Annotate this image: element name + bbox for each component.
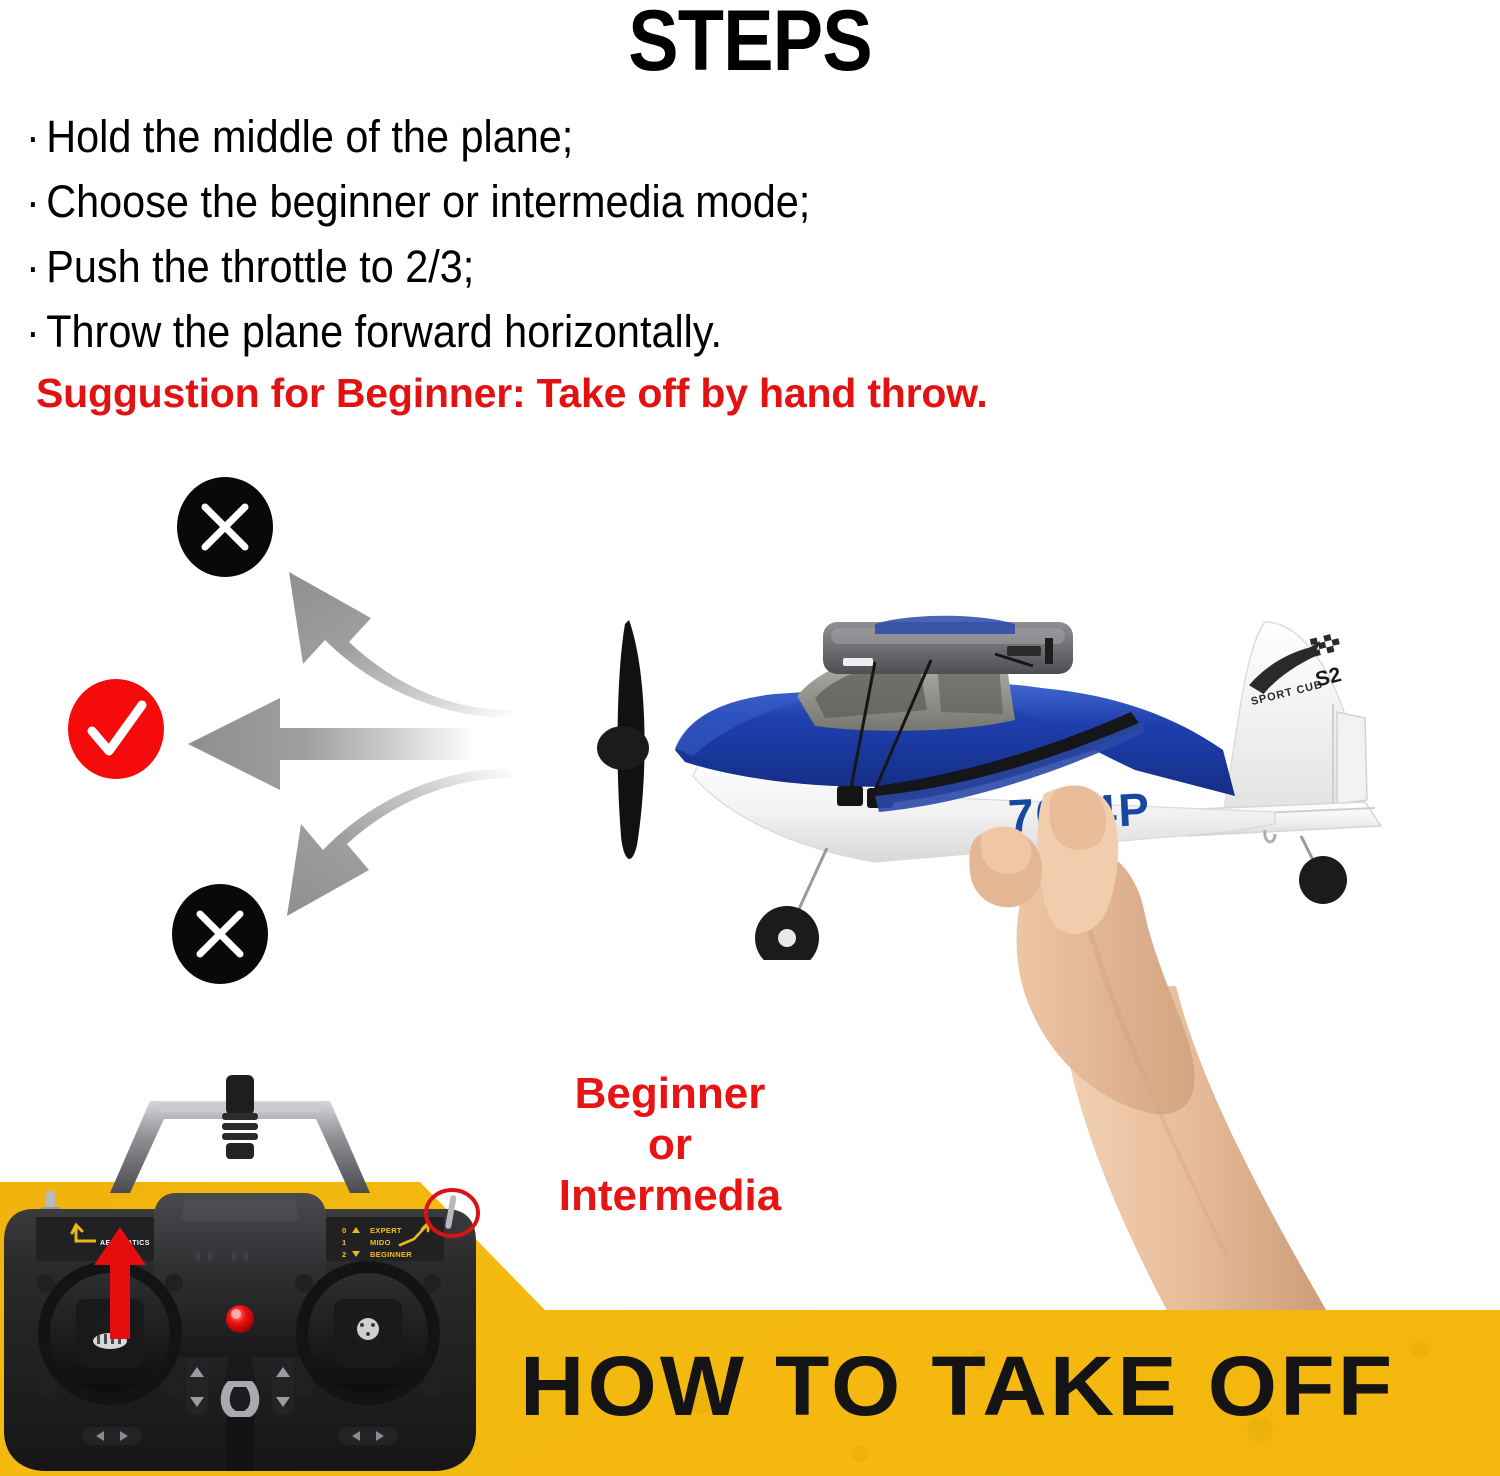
steps-list: ·Hold the middle of the plane; ·Choose t… xyxy=(26,104,1426,364)
rc-transmitter: AEROBATICS 0 EXPERT 1 MIDO 2 BEGINNER xyxy=(0,1075,490,1476)
step-item: ·Choose the beginner or intermedia mode; xyxy=(26,169,1314,234)
mode-name-2: BEGINNER xyxy=(370,1250,412,1259)
mode-name-1: MIDO xyxy=(370,1238,391,1247)
banner-title: HOW TO TAKE OFF xyxy=(520,1338,1500,1438)
step-item: ·Throw the plane forward horizontally. xyxy=(26,299,1314,364)
power-led-icon xyxy=(226,1305,254,1333)
propeller-icon xyxy=(597,620,649,859)
page-title: STEPS xyxy=(90,0,1410,91)
suggestion-text: Suggustion for Beginner: Take off by han… xyxy=(36,370,988,417)
step-text: Push the throttle to 2/3; xyxy=(46,241,474,292)
landing-gear xyxy=(755,848,827,960)
mode-name-0: EXPERT xyxy=(370,1226,402,1235)
step-text: Throw the plane forward horizontally. xyxy=(46,306,722,357)
tail-logo-model: S2 xyxy=(1313,663,1343,692)
step-text: Hold the middle of the plane; xyxy=(46,111,573,162)
bullet-icon: · xyxy=(26,104,46,169)
down-curved-arrow-icon xyxy=(245,760,515,930)
mode-callout-line1: Beginner xyxy=(520,1068,820,1119)
mode-num-0: 0 xyxy=(342,1226,346,1235)
antenna xyxy=(222,1075,258,1159)
step-item: ·Hold the middle of the plane; xyxy=(26,104,1314,169)
mode-num-2: 2 xyxy=(342,1250,346,1259)
bullet-icon: · xyxy=(26,234,46,299)
mode-callout-line2: or xyxy=(520,1119,820,1170)
step-item: ·Push the throttle to 2/3; xyxy=(26,234,1314,299)
instruction-graphic: STEPS ·Hold the middle of the plane; ·Ch… xyxy=(0,0,1500,1476)
mode-num-1: 1 xyxy=(342,1238,346,1247)
bullet-icon: · xyxy=(26,299,46,364)
bullet-icon: · xyxy=(26,169,46,234)
step-text: Choose the beginner or intermedia mode; xyxy=(46,176,810,227)
